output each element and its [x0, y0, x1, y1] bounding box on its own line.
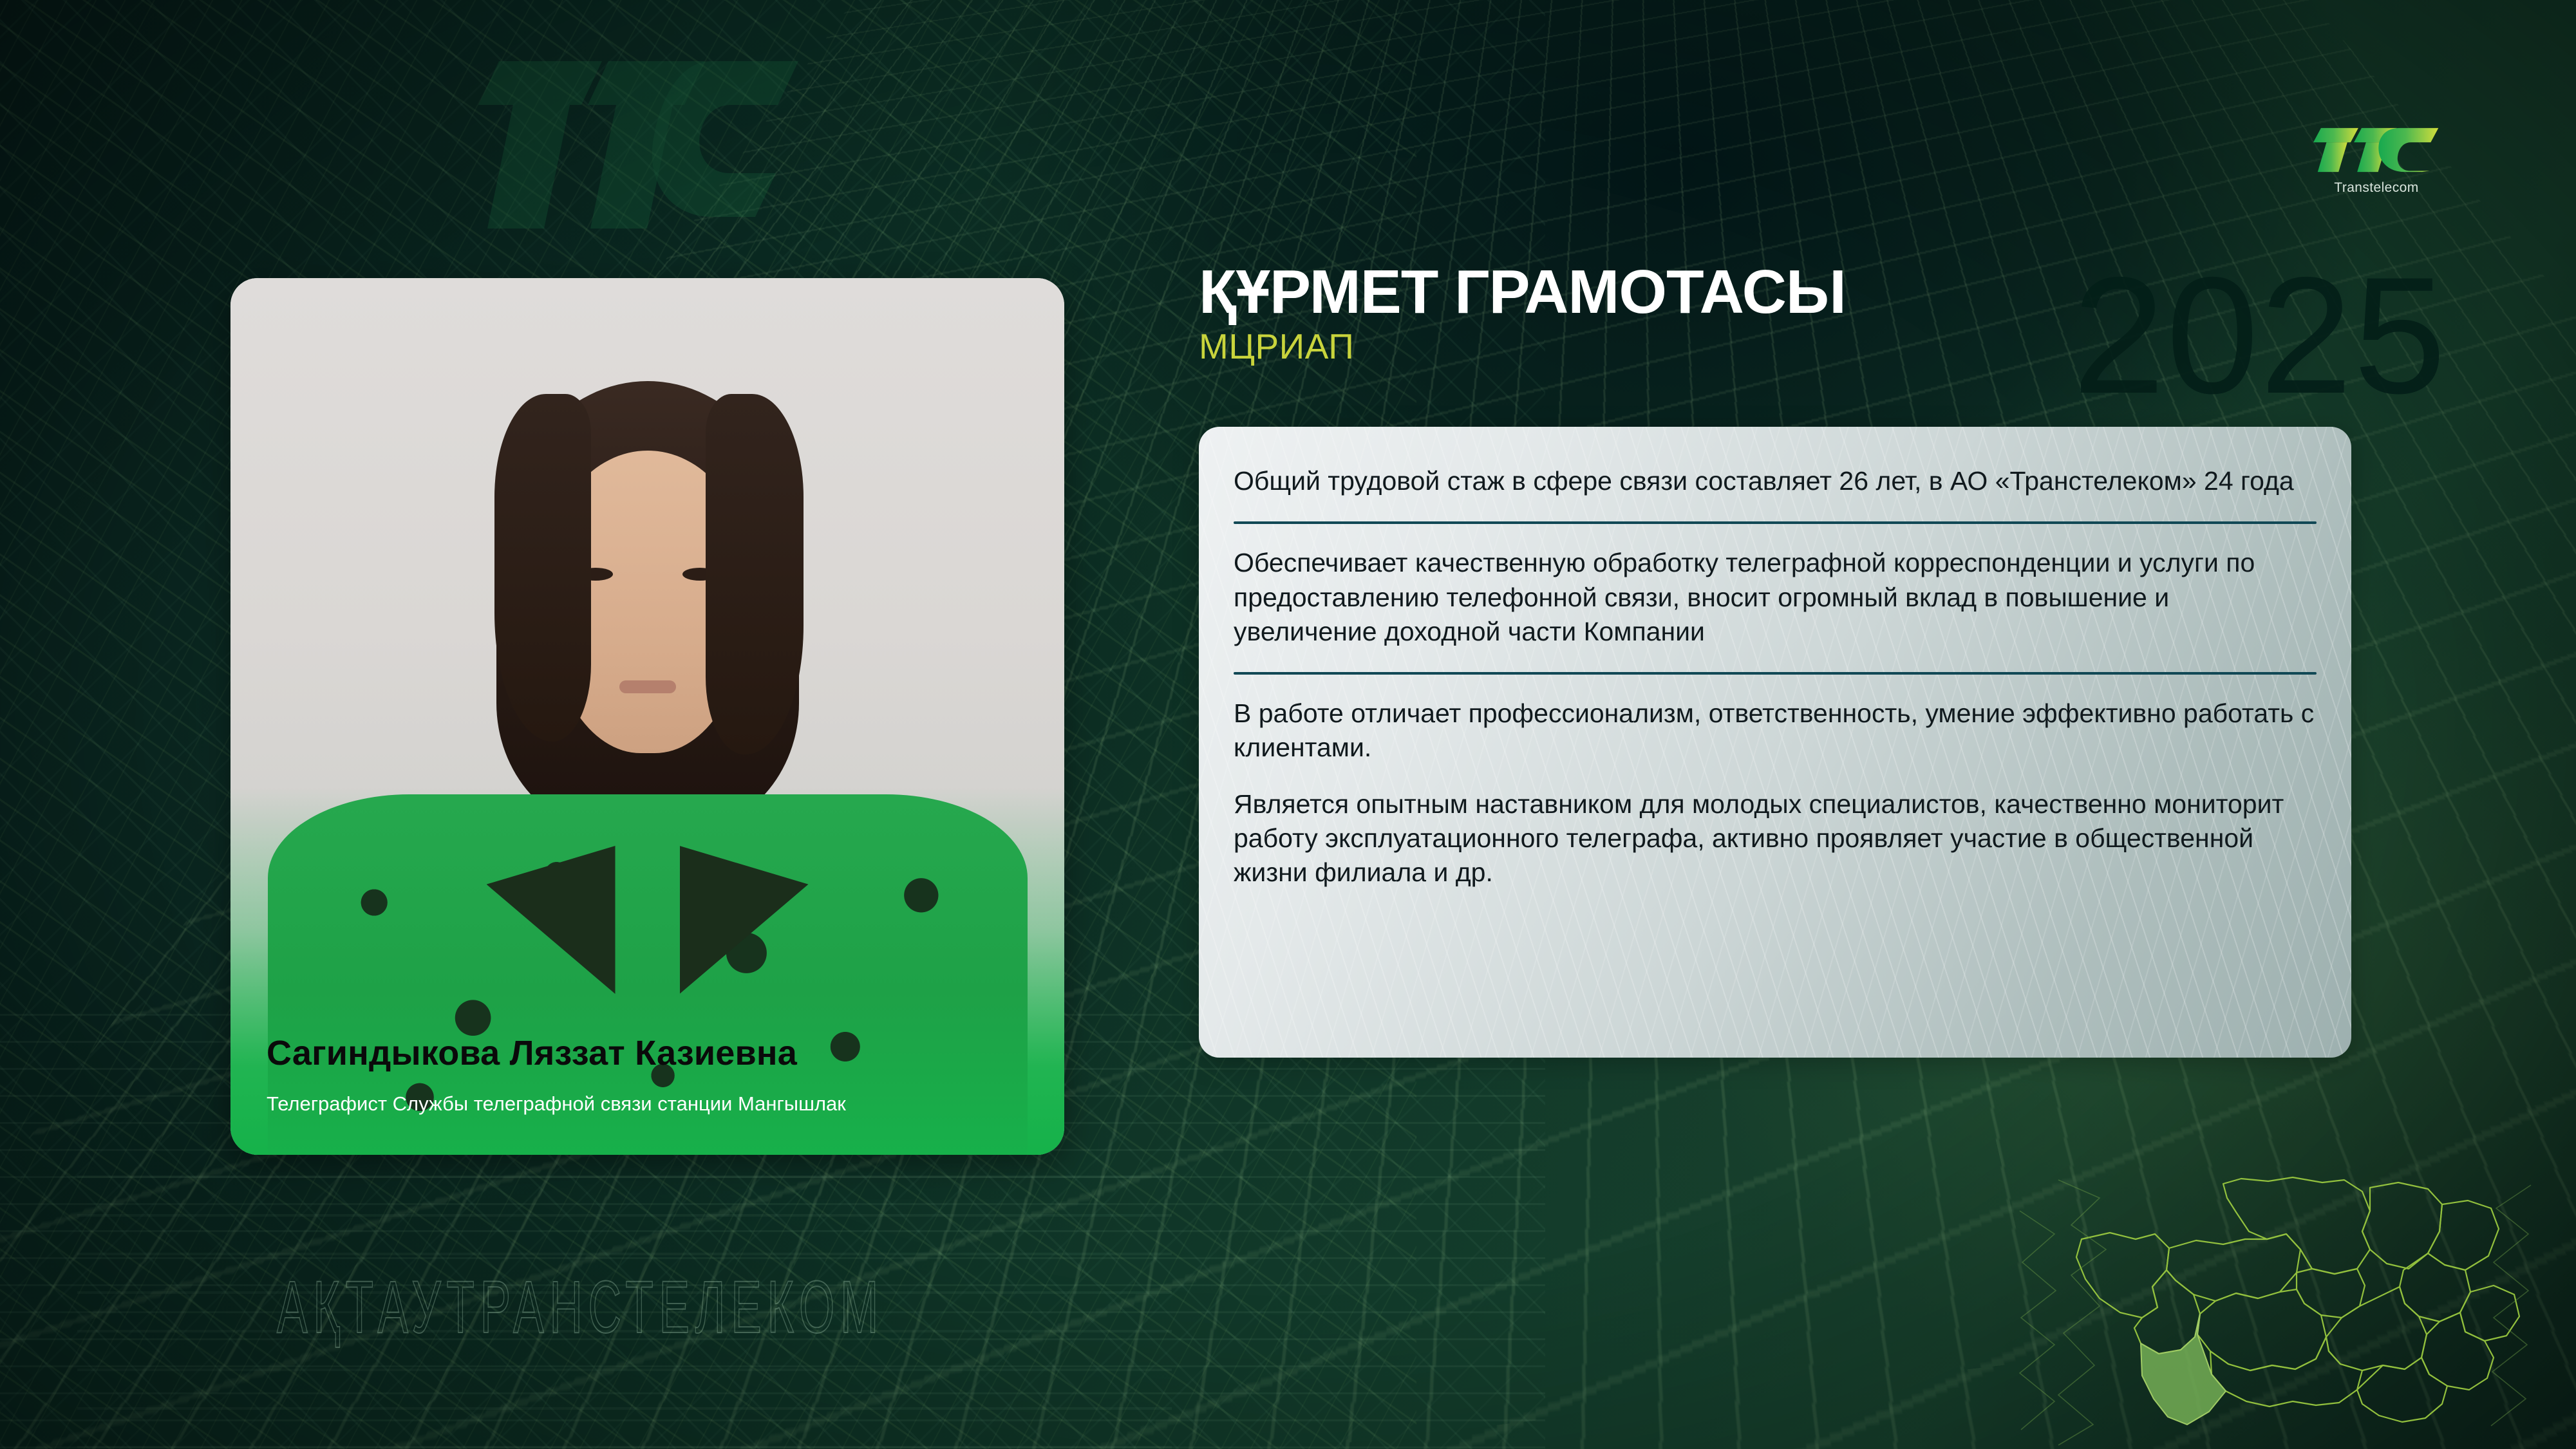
- year-watermark: 2025: [2073, 252, 2447, 418]
- info-panel: Общий трудовой стаж в сфере связи состав…: [1199, 427, 2351, 1058]
- heading-block: ҚҰРМЕТ ГРАМОТАСЫ МЦРИАП: [1199, 261, 1846, 364]
- info-paragraph-4: Является опытным наставником для молодых…: [1234, 787, 2317, 890]
- page-subtitle: МЦРИАП: [1199, 329, 1846, 364]
- panel-divider-2: [1234, 672, 2317, 675]
- page-title: ҚҰРМЕТ ГРАМОТАСЫ: [1199, 261, 1846, 324]
- info-paragraph-2: Обеспечивает качественную обработку теле…: [1234, 546, 2317, 649]
- bottom-watermark-text: АҚТАУТРАНСТЕЛЕКОМ: [277, 1265, 748, 1355]
- logo-caption: Transtelecom: [2299, 180, 2454, 196]
- person-name: Сагиндыкова Ляззат Казиевна: [267, 1034, 1028, 1072]
- person-role: Телеграфист Службы телеграфной связи ста…: [267, 1092, 1028, 1116]
- hair-front-left: [494, 394, 591, 742]
- info-paragraph-1: Общий трудовой стаж в сфере связи состав…: [1234, 464, 2317, 498]
- portrait-card: Сагиндыкова Ляззат Казиевна Телеграфист …: [230, 278, 1064, 1155]
- panel-divider-1: [1234, 521, 2317, 524]
- info-paragraph-3: В работе отличает профессионализм, ответ…: [1234, 696, 2317, 765]
- ttc-logo-icon: [2313, 124, 2440, 176]
- kazakhstan-map: [2009, 1172, 2550, 1449]
- ttc-logo: Transtelecom: [2299, 124, 2454, 196]
- ttc-watermark-logo-icon: [473, 35, 814, 241]
- portrait-photo: [230, 278, 1064, 1155]
- portrait-caption: Сагиндыкова Ляззат Казиевна Телеграфист …: [230, 1034, 1064, 1155]
- hair-front-right: [706, 394, 804, 754]
- mouth: [619, 680, 676, 693]
- map-region-mangystau: [2141, 1314, 2226, 1425]
- award-slide: 2025 Transtelecom ҚҰРМЕТ ГРАМОТА: [0, 0, 2576, 1449]
